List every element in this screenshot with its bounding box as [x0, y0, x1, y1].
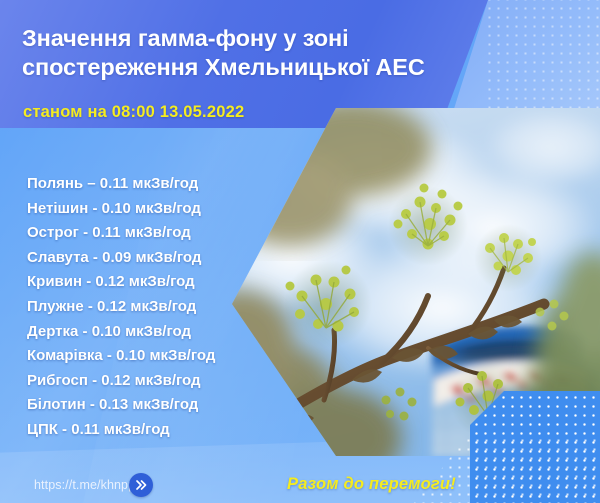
list-item: Комарівка - 0.10 мкЗв/год [27, 344, 267, 369]
page-title: Значення гамма-фону у зоні спостереження… [22, 24, 452, 82]
telegram-link[interactable]: https://t.me/khnpp [34, 473, 153, 497]
list-item: Славута - 0.09 мкЗв/год [27, 246, 267, 271]
timestamp-label: станом на 08:00 13.05.2022 [23, 103, 244, 122]
list-item: Полянь – 0.11 мкЗв/год [27, 172, 267, 197]
list-item: Білотин - 0.13 мкЗв/год [27, 393, 267, 418]
list-item: Дертка - 0.10 мкЗв/год [27, 320, 267, 345]
list-item: Кривин - 0.12 мкЗв/год [27, 270, 267, 295]
readings-list: Полянь – 0.11 мкЗв/год Нетішин - 0.10 мк… [27, 172, 267, 443]
telegram-url-label: https://t.me/khnpp [34, 478, 135, 492]
list-item: ЦПК - 0.11 мкЗв/год [27, 418, 267, 443]
list-item: Рибгосп - 0.12 мкЗв/год [27, 369, 267, 394]
dot-pattern-top-right [482, 0, 600, 108]
slogan-label: Разом до перемоги! [287, 475, 456, 494]
double-chevron-icon [129, 473, 153, 497]
list-item: Нетішин - 0.10 мкЗв/год [27, 197, 267, 222]
poster: Значення гамма-фону у зоні спостереження… [0, 0, 600, 503]
list-item: Острог - 0.11 мкЗв/год [27, 221, 267, 246]
list-item: Плужне - 0.12 мкЗв/год [27, 295, 267, 320]
